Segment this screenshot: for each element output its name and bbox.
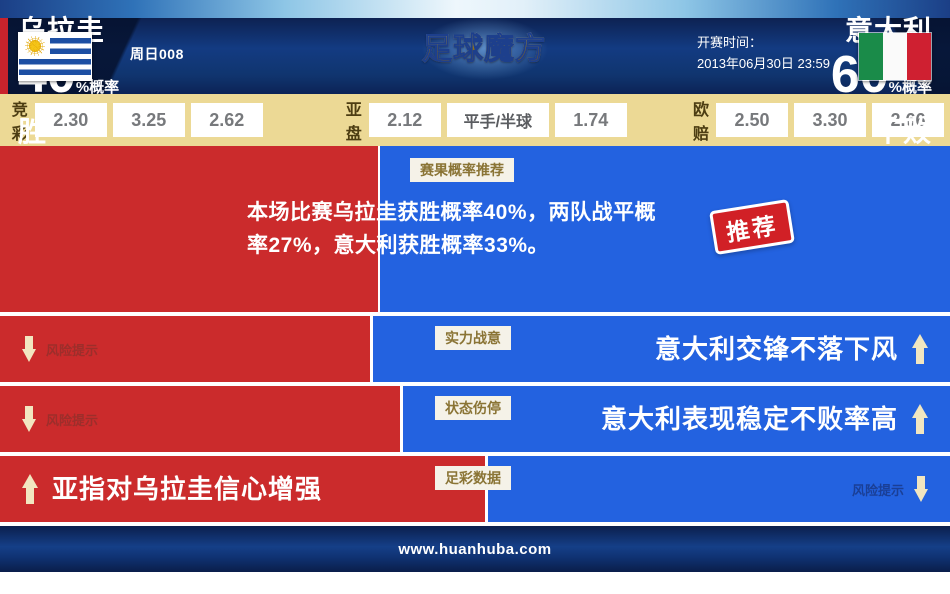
odds-bar: 竞彩 2.30 3.25 2.62 亚盘 2.12 平手/半球 1.74 欧赔 …	[0, 94, 950, 146]
row3-headline-text: 亚指对乌拉圭信心增强	[52, 470, 322, 508]
jingcai-away-odd[interactable]: 2.62	[191, 103, 263, 137]
row2-headline-text: 意大利表现稳定不败率高	[601, 400, 898, 438]
bottom-white-margin	[0, 572, 950, 594]
site-url[interactable]: www.huanhuba.com	[398, 541, 551, 558]
row1-divider	[370, 316, 373, 382]
jingcai-draw-odd[interactable]: 3.25	[113, 103, 185, 137]
yapan-home-odd[interactable]: 2.12	[369, 103, 441, 137]
row1-risk-label: 风险提示	[46, 340, 98, 359]
arrow-down-icon	[914, 476, 928, 502]
header-red-accent	[0, 18, 8, 94]
away-probability-suffix: %概率	[889, 79, 932, 96]
tab-form-injury: 状态伤停	[435, 396, 511, 420]
tab-strength-intent: 实力战意	[435, 326, 511, 350]
kickoff-value: 2013年06月30日 23:59	[697, 53, 830, 74]
row2-headline: 意大利表现稳定不败率高	[601, 400, 928, 438]
home-probability-suffix: %概率	[76, 79, 119, 96]
italy-flag	[858, 32, 932, 81]
row3-risk-note: 风险提示	[852, 476, 928, 502]
match-number: 周日008	[130, 44, 184, 64]
uruguay-flag	[18, 32, 92, 81]
arrow-up-icon	[912, 334, 928, 364]
yapan-handicap[interactable]: 平手/半球	[447, 103, 549, 137]
row1-headline-text: 意大利交锋不落下风	[655, 330, 898, 368]
away-result-label: 不败	[831, 115, 932, 149]
row2-risk-label: 风险提示	[46, 410, 98, 429]
yapan-label: 亚盘	[346, 96, 362, 144]
oupei-home-odd[interactable]: 2.50	[716, 103, 788, 137]
row3-headline: 亚指对乌拉圭信心增强	[22, 470, 322, 508]
probability-description: 本场比赛乌拉圭获胜概率40%，两队战平概率27%，意大利获胜概率33%。	[247, 196, 672, 262]
arrow-up-icon	[912, 404, 928, 434]
sun-of-may-icon	[28, 39, 42, 53]
arrow-up-icon	[22, 474, 38, 504]
odds-group-yapan: 亚盘 2.12 平手/半球 1.74	[346, 96, 633, 144]
arrow-down-icon	[22, 336, 36, 362]
site-footer: www.huanhuba.com	[0, 526, 950, 572]
infographic-page: 周日008 足球魔方 开赛时间： 2013年06月30日 23:59 竞彩 2.…	[0, 0, 950, 594]
yapan-away-odd[interactable]: 1.74	[555, 103, 627, 137]
site-logo[interactable]: 足球魔方	[409, 27, 559, 72]
row2-risk-note: 风险提示	[22, 406, 98, 432]
kickoff-time: 开赛时间： 2013年06月30日 23:59	[697, 32, 830, 74]
row1-headline: 意大利交锋不落下风	[655, 330, 928, 368]
home-result-label: 胜	[18, 115, 119, 149]
site-logo-text: 足球魔方	[409, 27, 559, 72]
row3-risk-label: 风险提示	[852, 480, 904, 499]
tab-lottery-data: 足彩数据	[435, 466, 511, 490]
kickoff-label: 开赛时间：	[697, 32, 830, 53]
tab-probability-recommendation: 赛果概率推荐	[410, 158, 514, 182]
row2-divider	[400, 386, 403, 452]
oupei-label: 欧赔	[693, 96, 709, 144]
top-gradient-strip	[0, 0, 950, 18]
arrow-down-icon	[22, 406, 36, 432]
row1-risk-note: 风险提示	[22, 336, 98, 362]
